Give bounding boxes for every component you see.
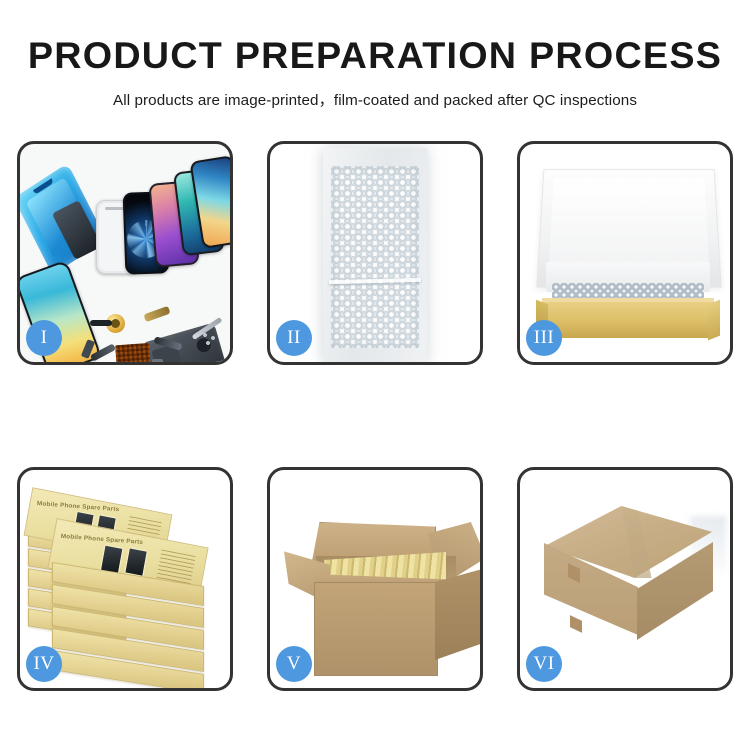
process-step-cell-2: II: [250, 137, 500, 369]
retail-box-label: Mobile Phone Spare Parts: [61, 533, 144, 546]
page-header: PRODUCT PREPARATION PROCESS All products…: [0, 0, 750, 110]
bubble-wrap-bubbles: [331, 166, 419, 348]
spare-part-graphic-e: [152, 359, 163, 362]
process-step-cell-5: V: [250, 463, 500, 695]
carton-side-face: [435, 568, 480, 660]
process-step-panel-6[interactable]: VI: [517, 467, 733, 691]
yellow-tray-base: [542, 302, 714, 338]
step-badge-1: I: [26, 320, 62, 356]
carton-front-face: [314, 582, 438, 676]
process-step-grid: I II III: [0, 137, 750, 695]
notch-shape: [33, 178, 54, 195]
process-step-cell-6: VI: [500, 463, 750, 695]
step-badge-4: IV: [26, 646, 62, 682]
process-step-panel-3[interactable]: III: [517, 141, 733, 365]
process-step-cell-4: Mobile Phone Spare Parts Mobile Phone Sp…: [0, 463, 250, 695]
connector-chip-graphic: [115, 343, 151, 362]
process-step-panel-1[interactable]: I: [17, 141, 233, 365]
flex-cable-graphic-3: [143, 306, 170, 322]
process-step-panel-5[interactable]: V: [267, 467, 483, 691]
spare-part-graphic-a: [90, 320, 112, 326]
step-badge-6: VI: [526, 646, 562, 682]
grid-row-gap: [0, 369, 750, 463]
step-badge-5: V: [276, 646, 312, 682]
screen-thumbnail: [124, 547, 148, 577]
process-step-panel-2[interactable]: II: [267, 141, 483, 365]
sealed-carton-tape-tab-bottom: [570, 615, 582, 633]
process-step-cell-1: I: [0, 137, 250, 369]
page-subtitle: All products are image-printed，film-coat…: [0, 88, 750, 110]
process-step-panel-4[interactable]: Mobile Phone Spare Parts Mobile Phone Sp…: [17, 467, 233, 691]
page-title: PRODUCT PREPARATION PROCESS: [0, 34, 750, 78]
screws-graphic: [202, 332, 220, 346]
step-badge-3: III: [526, 320, 562, 356]
process-step-cell-3: III: [500, 137, 750, 369]
step-badge-2: II: [276, 320, 312, 356]
